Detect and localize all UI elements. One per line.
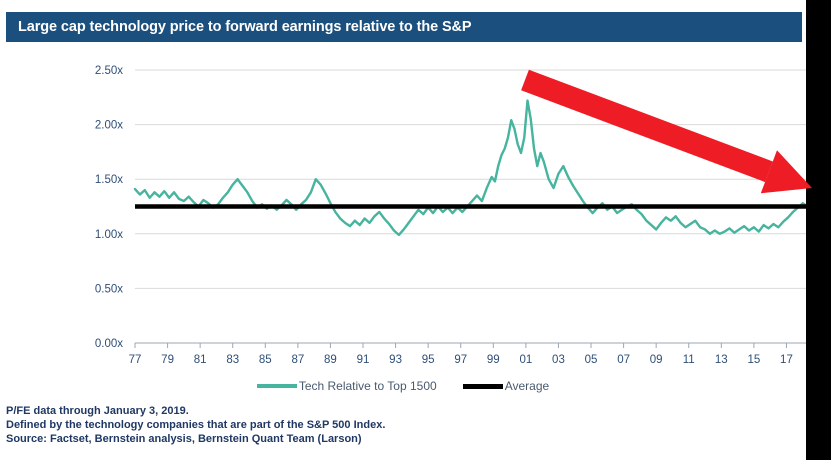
y-axis-tick-label: 2.50x: [95, 65, 123, 77]
x-axis-tick-label: 05: [585, 354, 598, 366]
x-axis-tick-label: 79: [161, 354, 174, 366]
chart-page: Large cap technology price to forward ea…: [0, 0, 831, 460]
x-axis-tick-label: 15: [747, 354, 760, 366]
x-axis-tick-label: 89: [324, 354, 337, 366]
legend-label-average: Average: [505, 379, 549, 393]
page-title: Large cap technology price to forward ea…: [6, 19, 471, 35]
footnote-line: Source: Factset, Bernstein analysis, Ber…: [6, 432, 706, 446]
x-axis-tick-label: 07: [617, 354, 630, 366]
x-axis-tick-label: 01: [519, 354, 532, 366]
chart-legend: Tech Relative to Top 1500 Average: [0, 376, 806, 396]
x-axis-tick-label: 13: [715, 354, 728, 366]
legend-swatch-line-icon: [257, 384, 297, 388]
x-axis-tick-label: 83: [226, 354, 239, 366]
x-axis-tick-label: 97: [454, 354, 467, 366]
x-axis-tick-label: 85: [259, 354, 272, 366]
x-axis-tick-label: 91: [357, 354, 370, 366]
y-axis-tick-label: 2.00x: [95, 120, 123, 132]
line-chart: 0.00x0.50x1.00x1.50x2.00x2.50x7779818385…: [0, 48, 806, 398]
x-axis-tick-label: 03: [552, 354, 565, 366]
legend-label-tech: Tech Relative to Top 1500: [299, 379, 437, 393]
x-axis-tick-label: 95: [422, 354, 435, 366]
legend-item-average: Average: [463, 379, 549, 393]
right-edge-strip: [806, 0, 831, 460]
x-axis-tick-label: 93: [389, 354, 402, 366]
series-tech-line: [135, 101, 806, 235]
footnote-block: P/FE data through January 3, 2019. Defin…: [6, 404, 706, 446]
x-axis-tick-label: 17: [780, 354, 793, 366]
y-axis-tick-label: 0.00x: [95, 338, 123, 350]
footnote-line: P/FE data through January 3, 2019.: [6, 404, 706, 418]
legend-item-tech: Tech Relative to Top 1500: [257, 379, 437, 393]
chart-title-bar: Large cap technology price to forward ea…: [6, 12, 802, 42]
x-axis-tick-label: 77: [129, 354, 142, 366]
y-axis-tick-label: 1.00x: [95, 229, 123, 241]
y-axis-tick-label: 0.50x: [95, 283, 123, 295]
x-axis-tick-label: 81: [194, 354, 207, 366]
chart-plot-area: 0.00x0.50x1.00x1.50x2.00x2.50x7779818385…: [0, 48, 806, 398]
y-axis-tick-label: 1.50x: [95, 174, 123, 186]
x-axis-tick-label: 87: [291, 354, 304, 366]
x-axis-tick-label: 99: [487, 354, 500, 366]
footnote-line: Defined by the technology companies that…: [6, 418, 706, 432]
legend-swatch-line-icon: [463, 384, 503, 389]
x-axis-tick-label: 09: [650, 354, 663, 366]
x-axis-tick-label: 11: [683, 354, 695, 366]
